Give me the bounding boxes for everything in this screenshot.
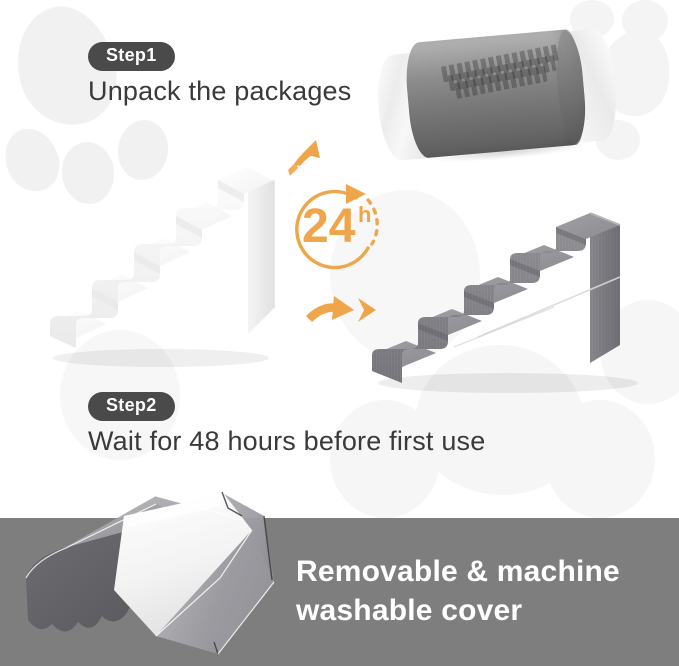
step-heading-1: Unpack the packages — [88, 76, 351, 107]
step-badge-2: Step2 — [88, 392, 175, 421]
infographic-poster: Step1 Unpack the packages — [0, 0, 679, 666]
24-hour-cycle-badge: 24 h — [284, 138, 396, 343]
arrow-right-icon — [306, 296, 376, 322]
step-badge-1: Step1 — [88, 42, 175, 71]
banner-line-2: washable cover — [296, 591, 666, 630]
banner-line-1: Removable & machine — [296, 552, 666, 591]
paw-print-toe-icon — [330, 400, 440, 518]
paw-print-toe-icon — [622, 0, 668, 42]
arrow-up-left-icon — [288, 140, 320, 176]
cycle-unit-text: h — [358, 202, 371, 227]
banner-text: Removable & machine washable cover — [296, 552, 666, 630]
removable-cover-image — [6, 486, 306, 666]
cycle-value-text: 24 — [302, 200, 356, 253]
white-foam-stairs-image — [36, 158, 286, 373]
step-heading-2: Wait for 48 hours before first use — [88, 426, 485, 457]
paw-print-toe-icon — [545, 400, 655, 518]
vacuum-sealed-foam-roll-image — [373, 18, 614, 173]
grey-covered-stairs-image — [358, 195, 648, 395]
